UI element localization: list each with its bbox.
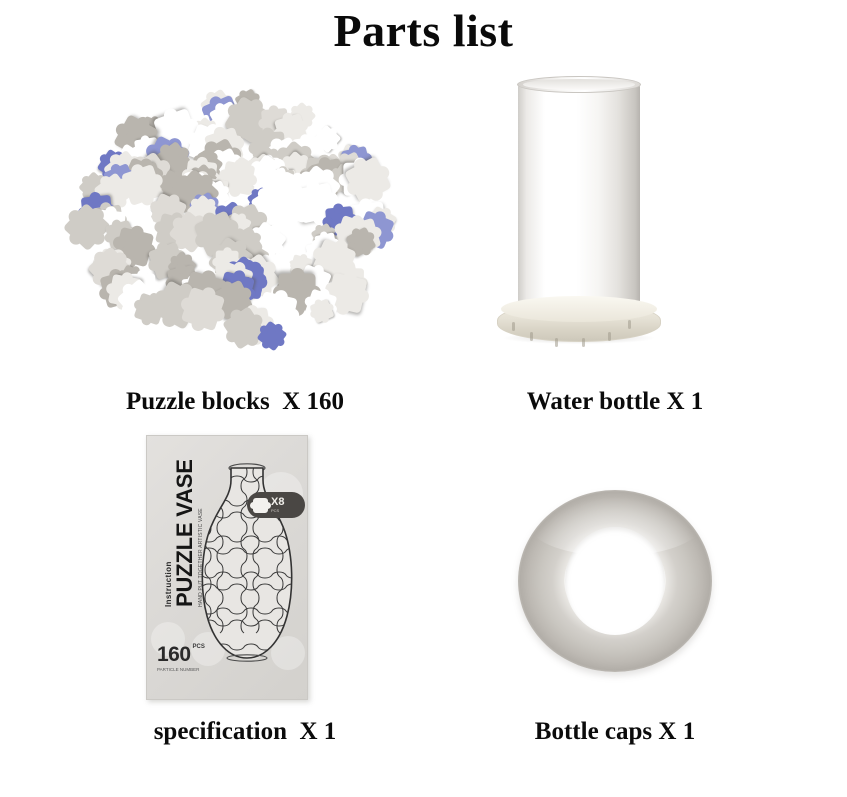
part-label-puzzle-blocks: Puzzle blocks X 160 (60, 388, 410, 416)
piece-count-number: 160 (157, 644, 191, 665)
collar-notch (628, 320, 631, 329)
part-item-water-bottle (470, 70, 760, 370)
booklet-cover: Instruction PUZZLE VASE HAND PUT TOGETHE… (146, 435, 308, 700)
collar-notch (512, 322, 515, 331)
part-item-specification: Instruction PUZZLE VASE HAND PUT TOGETHE… (120, 430, 350, 710)
booklet-subtitle: HAND PUT TOGETHER ARTISTIC VASE (198, 457, 204, 607)
part-item-puzzle-blocks (60, 80, 410, 360)
piece-count-note: PARTICLE NUMBER (157, 667, 205, 673)
booklet-piece-count-block: 160 PCS PARTICLE NUMBER (157, 644, 205, 673)
booklet-title-block: Instruction PUZZLE VASE HAND PUT TOGETHE… (164, 457, 204, 607)
piece-count-unit: PCS (193, 644, 205, 650)
collar-notch (608, 332, 611, 341)
water-bottle-image (470, 70, 760, 370)
cap-ring-opening (565, 527, 665, 635)
part-label-specification: specification X 1 (110, 718, 380, 746)
collar-notch (555, 338, 558, 347)
part-label-bottle-caps: Bottle caps X 1 (470, 718, 760, 746)
badge-quantity-label: X8 (271, 497, 284, 508)
part-label-water-bottle: Water bottle X 1 (470, 388, 760, 416)
booklet-quantity-badge: X8 PCS (247, 492, 305, 518)
bottle-body (518, 82, 640, 332)
specification-booklet-image: Instruction PUZZLE VASE HAND PUT TOGETHE… (120, 430, 350, 710)
bottle-collar-top (501, 296, 657, 322)
puzzle-vase-illustration (195, 458, 299, 670)
puzzle-blocks-image (60, 80, 410, 360)
collar-notch (530, 332, 533, 341)
bottle-caps-image (470, 470, 760, 710)
puzzle-piece-icon (253, 498, 268, 513)
collar-notch (582, 338, 585, 347)
booklet-title: PUZZLE VASE (174, 457, 196, 607)
puzzle-piece-pile (60, 80, 410, 360)
badge-unit-label: PCS (271, 509, 284, 513)
page-title: Parts list (0, 4, 847, 57)
part-item-bottle-caps (470, 470, 760, 710)
bottle-rim-opening (523, 79, 635, 90)
